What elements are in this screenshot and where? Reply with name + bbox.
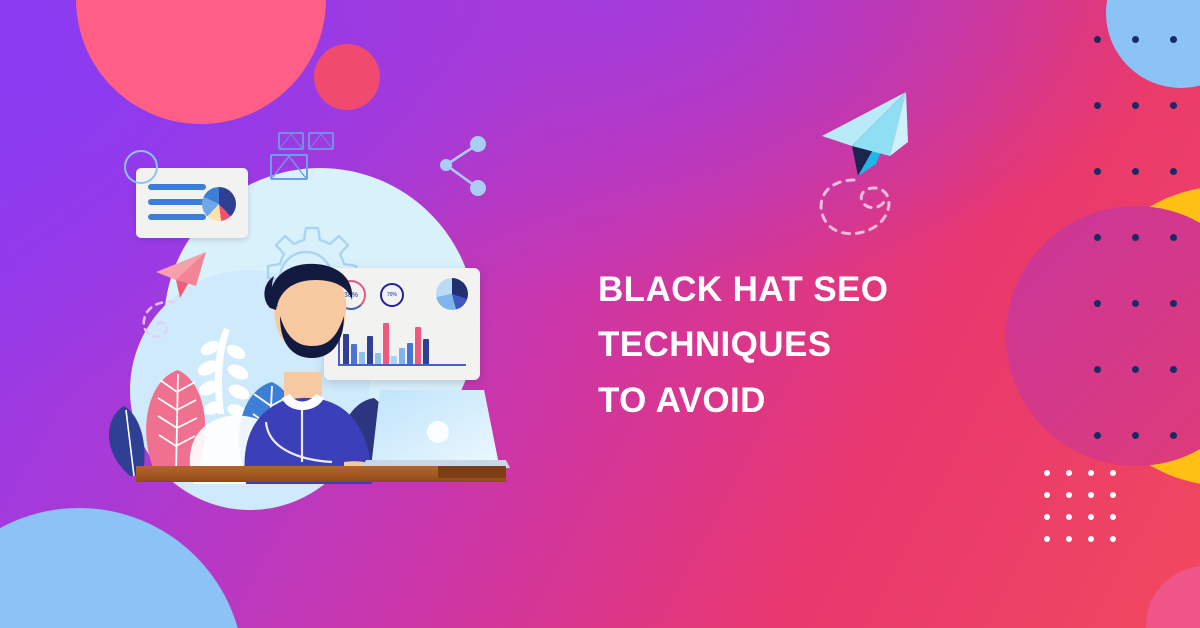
grid-dot: [1066, 514, 1072, 520]
envelope-icon: [308, 132, 334, 150]
grid-dot: [1170, 234, 1177, 241]
grid-dot: [1110, 470, 1116, 476]
grid-dot: [1066, 470, 1072, 476]
grid-dot: [1088, 514, 1094, 520]
grid-dot: [1044, 536, 1050, 542]
grid-dot: [1170, 102, 1177, 109]
grid-dot: [1132, 168, 1139, 175]
grid-dot: [1088, 470, 1094, 476]
grid-dot: [1110, 492, 1116, 498]
grid-dot: [1132, 366, 1139, 373]
grid-dot: [1094, 36, 1101, 43]
envelope-icon: [270, 154, 308, 180]
desk-surface-edge: [438, 466, 506, 478]
grid-dot: [1170, 432, 1177, 439]
grid-dot: [1132, 234, 1139, 241]
stat-card-line: [148, 199, 206, 205]
navy-dot-grid-decoration: [1094, 36, 1200, 496]
paper-plane-icon: [796, 84, 956, 244]
seo-illustration: 38% 70%: [96, 128, 516, 496]
grid-dot: [1094, 234, 1101, 241]
grid-dot: [1132, 102, 1139, 109]
grid-dot: [1170, 36, 1177, 43]
person-illustration: [176, 254, 516, 484]
grid-dot: [1132, 36, 1139, 43]
pink-circle-small-decoration: [314, 44, 380, 110]
grid-dot: [1110, 514, 1116, 520]
pink-circle-bottom-right: [1146, 566, 1200, 628]
grid-dot: [1066, 492, 1072, 498]
grid-dot: [1044, 492, 1050, 498]
page-title: BLACK HAT SEO TECHNIQUES TO AVOID: [598, 262, 1108, 428]
headline-line-2: TO AVOID: [598, 373, 1108, 428]
grid-dot: [1094, 168, 1101, 175]
envelope-icon: [278, 132, 304, 150]
ring-icon: [124, 150, 158, 184]
stat-card-line: [148, 214, 206, 220]
headline-line-1: BLACK HAT SEO TECHNIQUES: [598, 262, 1108, 373]
seo-banner: BLACK HAT SEO TECHNIQUES TO AVOID: [0, 0, 1200, 628]
light-blue-circle-bottom-left: [0, 508, 244, 628]
pink-circle-top-decoration: [76, 0, 326, 124]
white-dot-grid-decoration: [1044, 470, 1120, 546]
grid-dot: [1066, 536, 1072, 542]
grid-dot: [1170, 366, 1177, 373]
share-network-icon: [432, 130, 492, 200]
pie-chart-icon: [202, 187, 236, 221]
grid-dot: [1110, 536, 1116, 542]
grid-dot: [1044, 470, 1050, 476]
stat-card-line: [148, 184, 206, 190]
grid-dot: [1088, 492, 1094, 498]
grid-dot: [1170, 300, 1177, 307]
grid-dot: [1132, 300, 1139, 307]
grid-dot: [1094, 432, 1101, 439]
grid-dot: [1094, 102, 1101, 109]
grid-dot: [1170, 168, 1177, 175]
grid-dot: [1132, 432, 1139, 439]
grid-dot: [1044, 514, 1050, 520]
grid-dot: [1088, 536, 1094, 542]
